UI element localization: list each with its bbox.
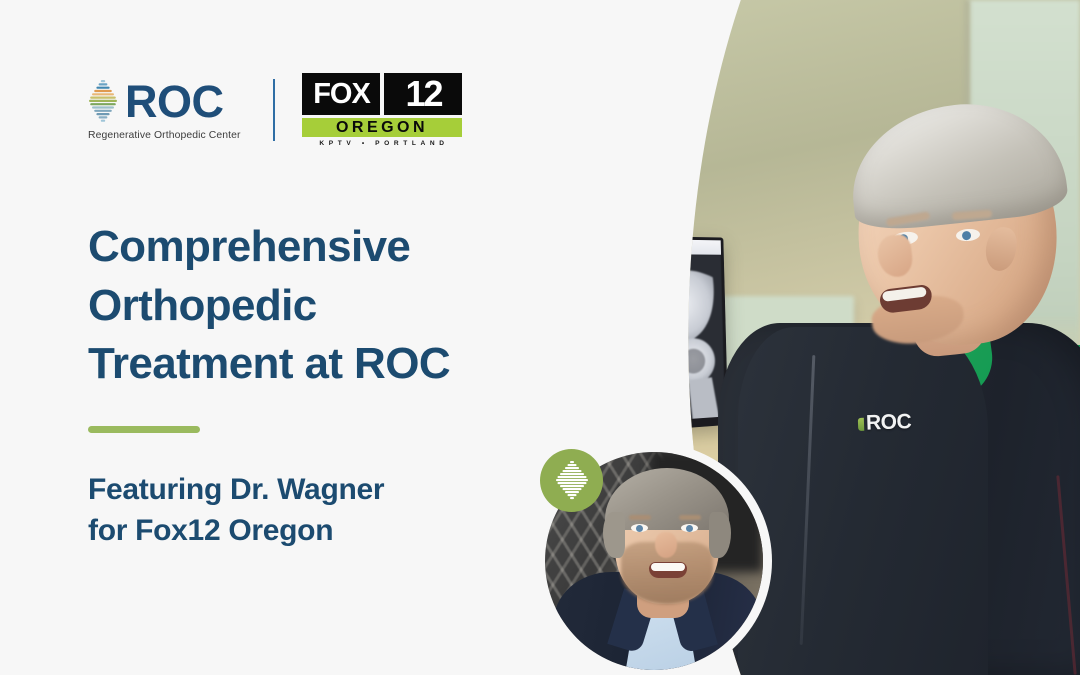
monitor-screen	[536, 253, 725, 430]
toolbar-dot	[605, 244, 609, 248]
vest-roc-logo: ROC	[858, 410, 912, 436]
roc-logo-row: ROC	[88, 79, 224, 126]
headline-line-3: Treatment at ROC	[88, 335, 518, 394]
toolbar-dot	[578, 244, 582, 248]
fox-station-callsign: KPTV • PORTLAND	[302, 140, 462, 147]
headshot-brow	[679, 515, 701, 520]
headshot-mouth	[649, 562, 687, 578]
headline-line-1: Comprehensive	[88, 218, 518, 277]
headshot-eye	[681, 524, 698, 532]
subtitle: Featuring Dr. Wagner for Fox12 Oregon	[88, 469, 508, 552]
roc-wordmark: ROC	[125, 81, 224, 124]
headshot-teeth	[651, 563, 685, 571]
pelvis-xray-image	[536, 253, 725, 430]
promo-slide: ROC	[0, 0, 1080, 675]
monitor-toolbar	[536, 237, 721, 254]
fox-wordmark: FOX	[302, 73, 380, 115]
roc-tagline: Regenerative Orthopedic Center	[88, 130, 241, 141]
logo-divider	[273, 79, 275, 141]
headline-line-2: Orthopedic	[88, 277, 518, 336]
subtitle-line-1: Featuring Dr. Wagner	[88, 469, 508, 510]
roc-diamond-mark-svg	[88, 79, 118, 126]
subtitle-line-2: for Fox12 Oregon	[88, 510, 508, 551]
fox-oregon-bar: OREGON	[302, 118, 462, 137]
vest-roc-mark-icon	[858, 417, 864, 430]
toolbar-dot	[565, 244, 569, 248]
page-title: Comprehensive Orthopedic Treatment at RO…	[88, 218, 518, 394]
fox-channel-number: 12	[384, 73, 462, 115]
fox12-logo: FOX 12 OREGON KPTV • PORTLAND	[302, 73, 462, 147]
roc-diamond-mark-icon	[88, 79, 118, 126]
fox12-top-row: FOX 12	[302, 73, 462, 115]
headshot-brow	[629, 515, 651, 520]
content-panel: ROC Regenerative Orthopedic Center FOX 1…	[0, 0, 560, 675]
headshot-hair-side	[603, 512, 625, 558]
doctor-teeth	[882, 287, 927, 302]
logo-lockup: ROC Regenerative Orthopedic Center FOX 1…	[88, 74, 560, 146]
headshot-eye	[631, 524, 648, 532]
doctor-vest	[738, 327, 988, 675]
vest-roc-text: ROC	[866, 410, 912, 436]
headshot-nose	[655, 532, 677, 558]
toolbar-dot	[592, 244, 596, 248]
accent-divider	[88, 426, 200, 433]
monitor-mount-arm	[570, 204, 612, 238]
roc-logo: ROC Regenerative Orthopedic Center	[88, 79, 251, 141]
